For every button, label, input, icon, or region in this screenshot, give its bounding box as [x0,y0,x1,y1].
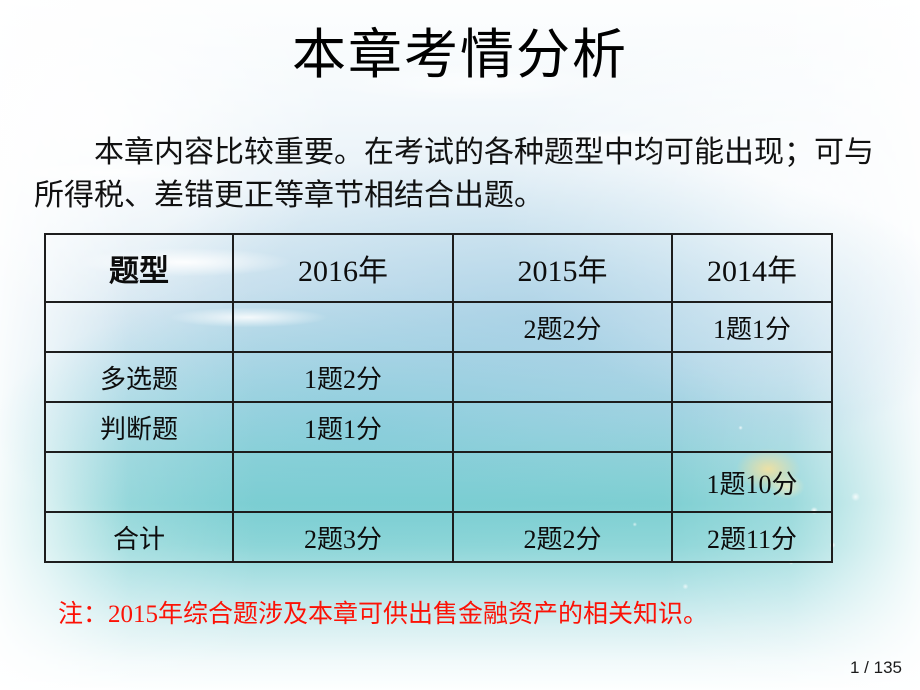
table-row: 判断题 1题1分 [45,402,832,452]
exam-statistics-table: 题型 2016年 2015年 2014年 2题2分 1题1分 多选题 1题2分 [44,233,833,563]
column-header-2015: 2015年 [453,234,672,302]
cell-question-type [45,452,233,512]
cell-2015 [453,352,672,402]
footnote-text: 注：2015年综合题涉及本章可供出售金融资产的相关知识。 [58,600,888,630]
cell-question-type: 多选题 [45,352,233,402]
cell-2015: 2题2分 [453,512,672,562]
cell-2015: 2题2分 [453,302,672,352]
cell-2015 [453,452,672,512]
cell-2014: 1题10分 [672,452,832,512]
cell-question-type [45,302,233,352]
cell-2014: 2题11分 [672,512,832,562]
cell-2016: 1题2分 [233,352,453,402]
presentation-slide: 本章考情分析 本章内容比较重要。在考试的各种题型中均可能出现；可与所得税、差错更… [0,0,920,690]
cell-question-type: 判断题 [45,402,233,452]
cell-question-type: 合计 [45,512,233,562]
table-row: 1题10分 [45,452,832,512]
cell-2014: 1题1分 [672,302,832,352]
cell-2016: 2题3分 [233,512,453,562]
table-row: 多选题 1题2分 [45,352,832,402]
table-row-total: 合计 2题3分 2题2分 2题11分 [45,512,832,562]
cell-2016 [233,452,453,512]
column-header-2014: 2014年 [672,234,832,302]
cell-2014 [672,402,832,452]
cell-2015 [453,402,672,452]
table-row: 2题2分 1题1分 [45,302,832,352]
slide-body-text: 本章内容比较重要。在考试的各种题型中均可能出现；可与所得税、差错更正等章节相结合… [34,132,890,217]
table-header-row: 题型 2016年 2015年 2014年 [45,234,832,302]
page-number: 1 / 135 [850,658,902,678]
slide-title: 本章考情分析 [0,28,920,82]
cell-2014 [672,352,832,402]
cell-2016: 1题1分 [233,402,453,452]
column-header-2016: 2016年 [233,234,453,302]
cell-2016 [233,302,453,352]
column-header-question-type: 题型 [45,234,233,302]
